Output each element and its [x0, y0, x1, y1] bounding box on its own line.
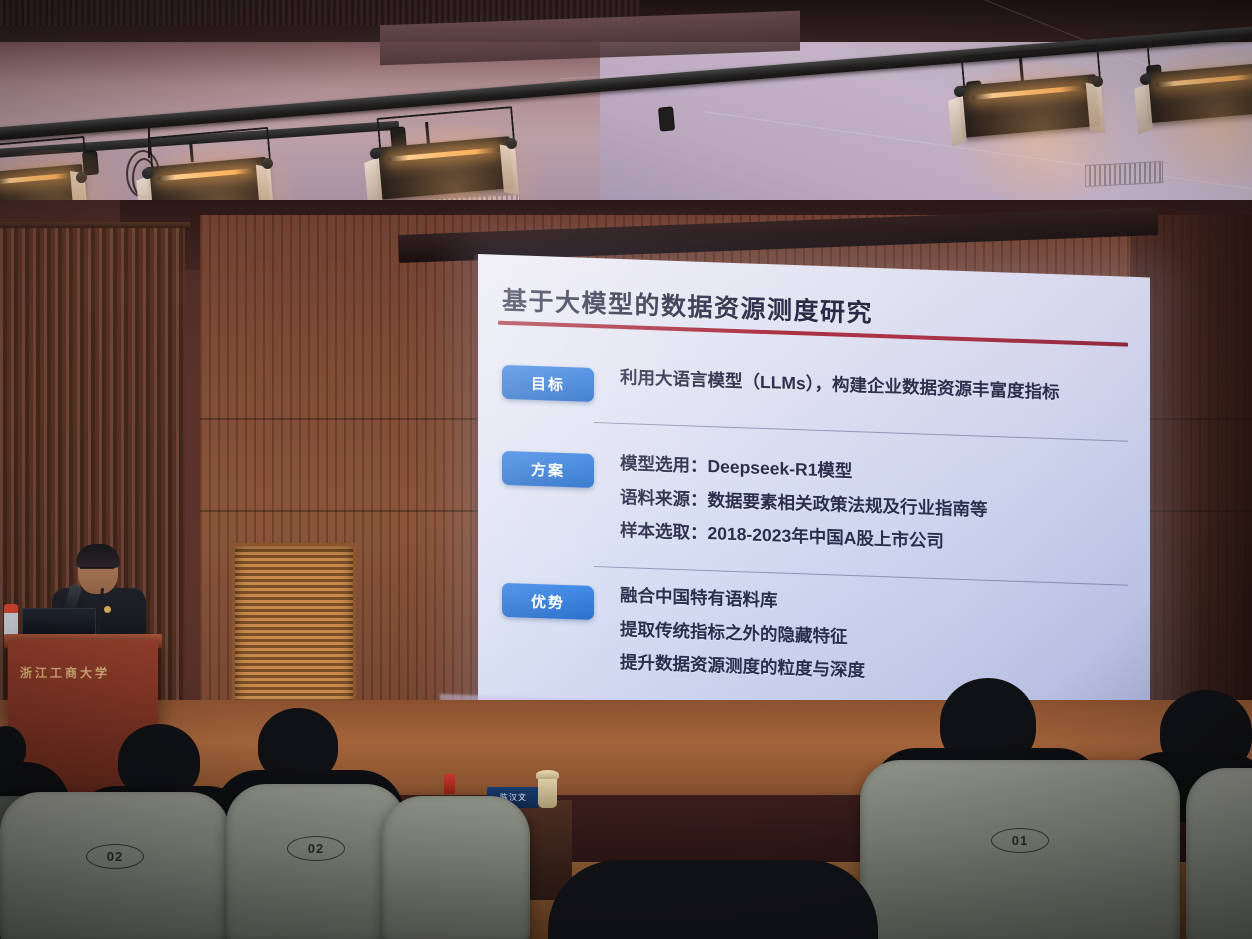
slide-line: 融合中国特有语料库	[620, 587, 865, 613]
section-tag-plan: 方案	[502, 451, 594, 488]
section-tag-advantage: 优势	[502, 583, 594, 620]
seat: 02	[0, 792, 230, 939]
teacup-icon	[538, 776, 557, 808]
auditorium-photo: 基于大模型的数据资源测度研究 目标 利用大语言模型（LLMs），构建企业数据资源…	[0, 0, 1252, 939]
slide-section-plan: 方案 模型选用：Deepseek-R1模型 语料来源：数据要素相关政策法规及行业…	[502, 451, 988, 552]
slide-line: 语料来源：数据要素相关政策法规及行业指南等	[620, 488, 988, 518]
seat-number: 01	[991, 828, 1049, 853]
section-divider	[594, 422, 1128, 442]
beverage-can	[444, 774, 455, 794]
podium-institution-label: 浙江工商大学	[20, 664, 145, 681]
teacup-lid	[536, 770, 559, 779]
section-lines-goal: 利用大语言模型（LLMs），构建企业数据资源丰富度指标	[620, 369, 1059, 402]
seat: 01	[860, 760, 1180, 939]
seat-number: 02	[86, 844, 144, 869]
seat	[382, 796, 530, 939]
seat	[1186, 768, 1252, 939]
seat-number: 02	[287, 836, 345, 861]
audience-shoulders	[548, 860, 878, 939]
speaker-hair	[76, 544, 120, 568]
slide-line: 提升数据资源测度的粒度与深度	[620, 654, 865, 680]
truss-clamp	[659, 107, 674, 130]
presentation-slide: 基于大模型的数据资源测度研究 目标 利用大语言模型（LLMs），构建企业数据资源…	[478, 254, 1150, 759]
section-divider	[594, 566, 1128, 586]
section-tag-goal: 目标	[502, 365, 594, 402]
glasses-icon	[80, 567, 114, 576]
slide-line: 模型选用：Deepseek-R1模型	[620, 455, 988, 485]
slide-section-goal: 目标 利用大语言模型（LLMs），构建企业数据资源丰富度指标	[502, 365, 1059, 418]
section-lines-advantage: 融合中国特有语料库 提取传统指标之外的隐藏特征 提升数据资源测度的粒度与深度	[620, 587, 865, 680]
slide-line: 利用大语言模型（LLMs），构建企业数据资源丰富度指标	[620, 369, 1059, 402]
section-lines-plan: 模型选用：Deepseek-R1模型 语料来源：数据要素相关政策法规及行业指南等…	[620, 455, 988, 552]
slide-line: 提取传统指标之外的隐藏特征	[620, 620, 865, 646]
slide-line: 样本选取：2018-2023年中国A股上市公司	[620, 522, 988, 552]
air-vent-icon	[1085, 161, 1163, 187]
slide-section-advantage: 优势 融合中国特有语料库 提取传统指标之外的隐藏特征 提升数据资源测度的粒度与深…	[502, 583, 865, 680]
seat: 02	[226, 784, 406, 939]
projection-screen: 基于大模型的数据资源测度研究 目标 利用大语言模型（LLMs），构建企业数据资源…	[478, 254, 1150, 759]
lapel-pin	[104, 606, 111, 613]
